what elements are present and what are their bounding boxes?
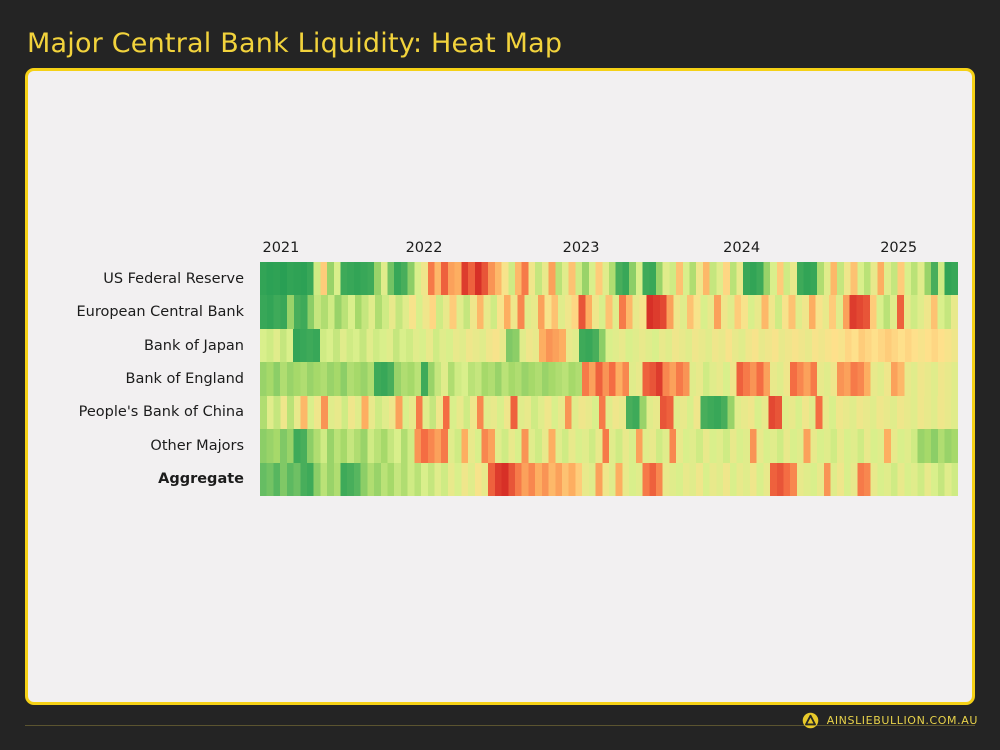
heatmap-row: [260, 429, 958, 462]
x-tick-label: 2023: [563, 240, 600, 256]
y-tick-label: Aggregate: [158, 471, 244, 487]
x-tick-label: 2025: [880, 240, 917, 256]
y-tick-label: People's Bank of China: [79, 404, 244, 420]
page-title: Major Central Bank Liquidity: Heat Map: [27, 28, 562, 59]
x-axis-tick-labels: 20212022202320242025: [260, 240, 958, 260]
heatmap-row: [260, 329, 958, 362]
x-tick-label: 2021: [262, 240, 299, 256]
footer-brand: AINSLIEBULLION.COM.AU: [802, 712, 978, 729]
slide-root: Major Central Bank Liquidity: Heat Map 2…: [0, 0, 1000, 750]
heatmap-row: [260, 362, 958, 395]
heatmap-row: [260, 396, 958, 429]
ainslie-triangle-logo-icon: [802, 712, 819, 729]
y-tick-label: Bank of England: [126, 371, 244, 387]
footer-brand-text: AINSLIEBULLION.COM.AU: [827, 714, 978, 727]
heatmap-row: [260, 262, 958, 295]
heatmap-plot-area: [260, 262, 958, 496]
y-tick-label: Bank of Japan: [144, 338, 244, 354]
y-tick-label: Other Majors: [150, 438, 244, 454]
y-tick-label: US Federal Reserve: [103, 271, 244, 287]
y-tick-label: European Central Bank: [76, 304, 244, 320]
chart-panel: 20212022202320242025 US Federal ReserveE…: [25, 68, 975, 705]
x-tick-label: 2024: [723, 240, 760, 256]
x-tick-label: 2022: [406, 240, 443, 256]
y-axis-tick-labels: US Federal ReserveEuropean Central BankB…: [28, 262, 252, 496]
heatmap-row: [260, 295, 958, 328]
heatmap-row: [260, 463, 958, 496]
